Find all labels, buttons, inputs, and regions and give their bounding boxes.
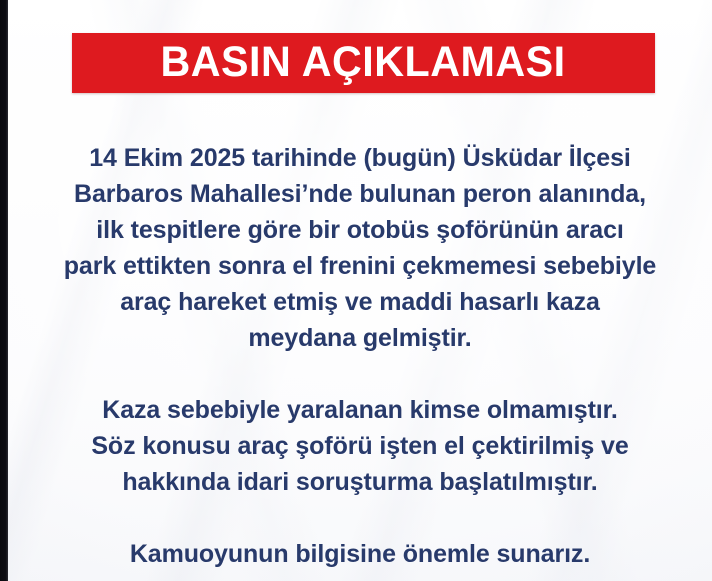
paragraph-closing-statement: Kamuoyunun bilgisine önemle sunarız. — [8, 536, 712, 572]
body-line: Kaza sebebiyle yaralanan kimse olmamıştı… — [8, 392, 712, 428]
body-line: Barbaros Mahallesi’nde bulunan peron ala… — [8, 176, 712, 212]
banner-title: BASIN AÇIKLAMASI — [161, 41, 566, 84]
body-line: meydana gelmiştir. — [8, 320, 712, 356]
body-copy: 14 Ekim 2025 tarihinde (bugün) Üsküdar İ… — [8, 140, 712, 572]
body-line: araç hareket etmiş ve maddi hasarlı kaza — [8, 284, 712, 320]
body-line: Söz konusu araç şoförü işten el çektiril… — [8, 428, 712, 464]
body-line: Kamuoyunun bilgisine önemle sunarız. — [8, 536, 712, 572]
press-release-poster: BASIN AÇIKLAMASI 14 Ekim 2025 tarihinde … — [0, 0, 712, 581]
body-line: ilk tespitlere göre bir otobüs şoförünün… — [8, 212, 712, 248]
body-line: park ettikten sonra el frenini çekmemesi… — [8, 248, 712, 284]
header-banner: BASIN AÇIKLAMASI — [72, 33, 655, 93]
body-line: hakkında idari soruşturma başlatılmıştır… — [8, 464, 712, 500]
body-line: 14 Ekim 2025 tarihinde (bugün) Üsküdar İ… — [8, 140, 712, 176]
paragraph-incident-description: 14 Ekim 2025 tarihinde (bugün) Üsküdar İ… — [8, 140, 712, 356]
left-edge-strip — [0, 0, 8, 581]
paragraph-injuries-and-action-taken: Kaza sebebiyle yaralanan kimse olmamıştı… — [8, 392, 712, 500]
